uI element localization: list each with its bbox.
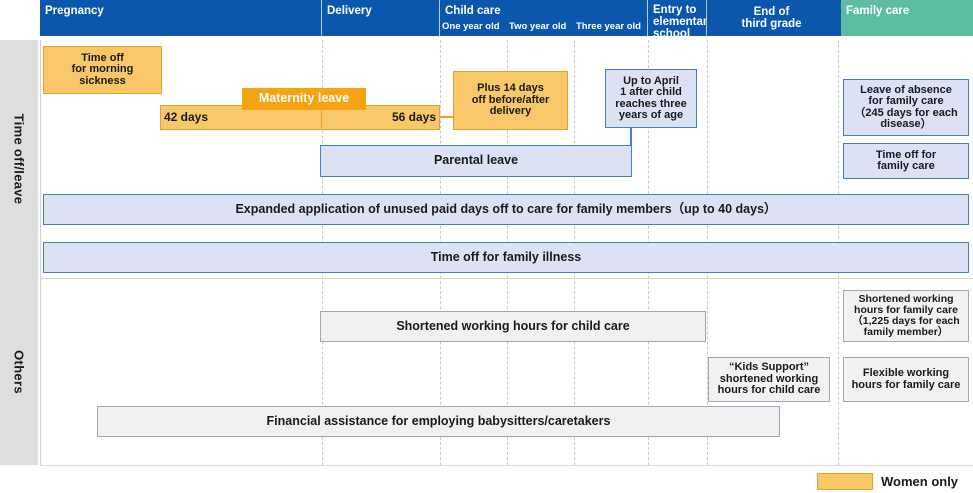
legend-label-women-only: Women only bbox=[881, 474, 958, 489]
item-plus-14-days[interactable]: Plus 14 days off before/after delivery bbox=[453, 71, 568, 130]
row-rail-others: Others bbox=[0, 278, 38, 465]
header-childcare-sub-one: One year old bbox=[442, 21, 500, 32]
header-childcare-sub-three: Three year old bbox=[576, 21, 641, 32]
legend-swatch-women-only bbox=[817, 473, 873, 490]
header-separator bbox=[706, 0, 707, 36]
header-separator bbox=[647, 0, 648, 36]
row-label-time-off: Time off/leave bbox=[12, 114, 27, 205]
item-financial-assistance[interactable]: Financial assistance for employing babys… bbox=[97, 406, 780, 437]
item-maternity-leave-label: Maternity leave bbox=[256, 93, 352, 105]
item-leave-of-absence-family-care[interactable]: Leave of absence for family care （245 da… bbox=[843, 79, 969, 136]
item-42-days-label: 42 days bbox=[161, 112, 211, 124]
row-label-others: Others bbox=[12, 350, 27, 394]
item-shortened-hours-child-care[interactable]: Shortened working hours for child care bbox=[320, 311, 706, 342]
item-expanded-paid-days[interactable]: Expanded application of unused paid days… bbox=[43, 194, 969, 225]
header-separator bbox=[439, 0, 440, 36]
plot-bottom-border bbox=[40, 465, 973, 466]
header-third-grade: End of third grade bbox=[707, 0, 836, 36]
item-kids-support[interactable]: “Kids Support” shortened working hours f… bbox=[708, 357, 830, 402]
item-time-off-family-illness[interactable]: Time off for family illness bbox=[43, 242, 969, 273]
header-childcare-sub-two: Two year old bbox=[509, 21, 566, 32]
header-entry-school-label: Entry to elementary school bbox=[653, 4, 714, 40]
item-up-to-april-label: Up to April 1 after child reaches three … bbox=[612, 76, 690, 122]
item-morning-sickness-label: Time off for morning sickness bbox=[69, 53, 137, 88]
row-divider bbox=[40, 278, 973, 279]
header-childcare: Child care One year old Two year old Thr… bbox=[440, 0, 648, 36]
item-kids-support-label: “Kids Support” shortened working hours f… bbox=[715, 362, 824, 397]
item-flexible-hours-family-care[interactable]: Flexible working hours for family care bbox=[843, 357, 969, 402]
header-separator bbox=[321, 0, 322, 36]
item-shortened-hours-family-care[interactable]: Shortened working hours for family care … bbox=[843, 290, 969, 342]
legend: Women only bbox=[817, 473, 958, 490]
item-financial-assistance-label: Financial assistance for employing babys… bbox=[264, 416, 614, 428]
header-family-care: Family care bbox=[841, 0, 973, 36]
header-childcare-label: Child care bbox=[445, 5, 501, 17]
row-rail-time-off: Time off/leave bbox=[0, 40, 38, 278]
item-plus-14-days-label: Plus 14 days off before/after delivery bbox=[469, 83, 553, 118]
item-flexible-hours-family-care-label: Flexible working hours for family care bbox=[849, 368, 964, 391]
header-delivery-label: Delivery bbox=[327, 5, 372, 17]
connector-line bbox=[440, 116, 454, 118]
item-56-days-label: 56 days bbox=[389, 112, 439, 124]
header-entry-school: Entry to elementary school bbox=[648, 0, 707, 36]
item-shortened-hours-child-care-label: Shortened working hours for child care bbox=[393, 321, 632, 333]
header-third-grade-label: End of third grade bbox=[707, 6, 836, 30]
item-parental-leave-label: Parental leave bbox=[431, 155, 521, 167]
item-time-off-family-care-label: Time off for family care bbox=[873, 150, 939, 173]
header-pregnancy: Pregnancy bbox=[40, 0, 322, 36]
item-parental-leave[interactable]: Parental leave bbox=[320, 145, 632, 177]
item-time-off-family-care[interactable]: Time off for family care bbox=[843, 143, 969, 179]
item-time-off-family-illness-label: Time off for family illness bbox=[428, 252, 585, 264]
timeline-chart: Pregnancy Delivery Child care One year o… bbox=[0, 0, 973, 493]
header-family-care-label: Family care bbox=[846, 5, 909, 17]
item-shortened-hours-family-care-label: Shortened working hours for family care … bbox=[849, 294, 962, 338]
item-maternity-leave[interactable]: Maternity leave bbox=[242, 88, 366, 110]
item-leave-of-absence-family-care-label: Leave of absence for family care （245 da… bbox=[851, 85, 960, 131]
item-up-to-april[interactable]: Up to April 1 after child reaches three … bbox=[605, 69, 697, 128]
item-expanded-paid-days-label: Expanded application of unused paid days… bbox=[232, 204, 779, 216]
header-pregnancy-label: Pregnancy bbox=[45, 5, 104, 17]
item-morning-sickness[interactable]: Time off for morning sickness bbox=[43, 46, 162, 94]
header-delivery: Delivery bbox=[322, 0, 440, 36]
